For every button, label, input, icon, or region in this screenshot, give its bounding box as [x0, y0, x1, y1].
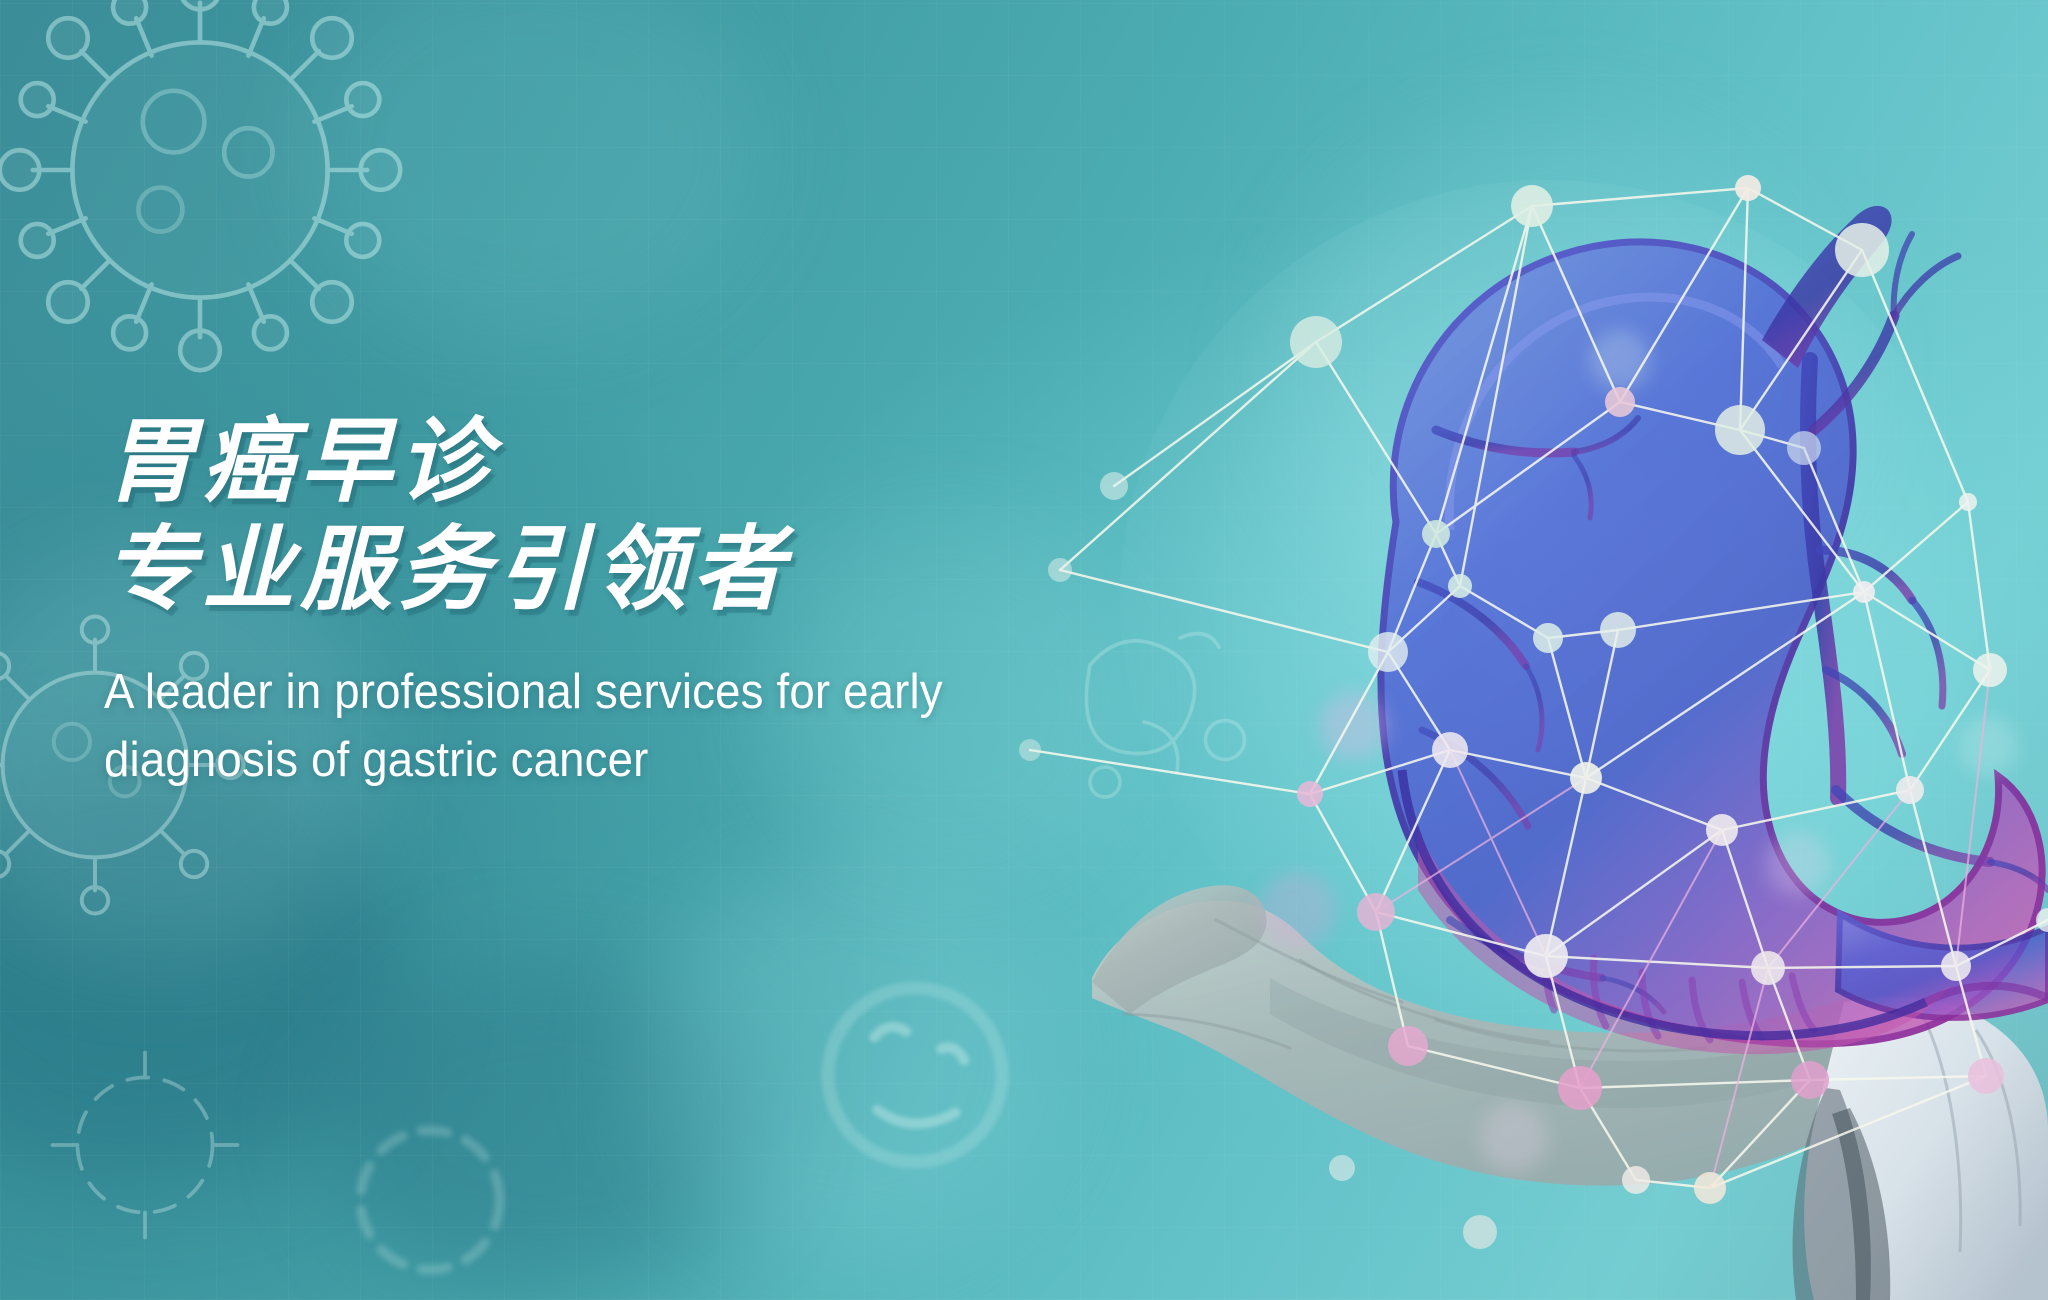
lab-coat-sleeve — [1804, 997, 2048, 1300]
network-node — [1432, 732, 1468, 768]
hand-palm — [1092, 901, 1892, 1186]
network-node — [1835, 223, 1889, 277]
subtitle-line-1: A leader in professional services for ea… — [104, 658, 1034, 726]
virus-particle-icon — [20, 1020, 270, 1270]
background-blob — [0, 760, 400, 1180]
network-node — [1787, 431, 1821, 465]
network-node — [1959, 493, 1977, 511]
background-blob — [330, 960, 760, 1290]
headline-line-1: 胃癌早诊 — [104, 408, 1104, 516]
network-node — [1297, 781, 1323, 807]
network-node — [1896, 776, 1924, 804]
network-node — [1388, 1026, 1428, 1066]
network-node — [1463, 1215, 1497, 1249]
background-blob — [1280, 120, 1840, 640]
hero-banner: 胃癌早诊 专业服务引领者 A leader in professional se… — [0, 0, 2048, 1300]
stomach-body — [1381, 242, 2042, 1044]
sleeve-cuff-shadow — [1793, 1088, 1871, 1300]
stomach-esophagus — [1762, 206, 1892, 368]
network-node — [1511, 185, 1553, 227]
network-node — [1448, 574, 1472, 598]
stomach-rugae — [1546, 940, 1814, 1040]
network-node — [1751, 951, 1785, 985]
network-node — [1622, 1166, 1650, 1194]
headline-block: 胃癌早诊 专业服务引领者 A leader in professional se… — [104, 408, 1104, 794]
background-blob — [640, 860, 1060, 1260]
network-node — [1558, 1066, 1602, 1110]
hand-shading — [1270, 978, 1866, 1108]
network-node — [1853, 581, 1875, 603]
stomach-vessels — [1418, 234, 2048, 1012]
hand-graphic — [1092, 885, 2048, 1300]
network-node — [1290, 316, 1342, 368]
virus-particle-icon — [770, 930, 1060, 1220]
network-node — [1524, 934, 1568, 978]
stomach-outline-accent — [1402, 770, 1926, 1036]
network-node — [1357, 893, 1395, 931]
stomach-lower-tint — [1418, 830, 1950, 1054]
network-nodes — [1019, 175, 2048, 1249]
headline-line-2: 专业服务引领者 — [104, 516, 1104, 624]
network-edges — [1030, 188, 2048, 1188]
network-node — [1422, 520, 1450, 548]
network-node — [1968, 1058, 2004, 1094]
network-node — [1368, 632, 1408, 672]
virus-particle-icon — [300, 1080, 560, 1300]
virus-particle-icon — [0, 0, 440, 390]
background-blob — [300, 0, 760, 340]
network-node — [1973, 653, 2007, 687]
network-node — [1570, 762, 1602, 794]
network-node — [1329, 1155, 1355, 1181]
hero-artwork — [1150, 130, 2048, 1300]
subtitle-block: A leader in professional services for ea… — [104, 658, 1034, 794]
network-node — [1715, 405, 1765, 455]
network-node — [1605, 387, 1635, 417]
network-node — [1791, 1061, 1829, 1099]
stomach-duodenum — [1838, 914, 2048, 1018]
hero-glow — [1120, 180, 1980, 1020]
network-edges-accent — [1376, 670, 1990, 1188]
subtitle-line-2: diagnosis of gastric cancer — [104, 726, 1034, 794]
bokeh-layer — [1260, 330, 2018, 1172]
stomach-graphic — [1381, 206, 2048, 1054]
network-node — [1694, 1172, 1726, 1204]
network-node — [1600, 612, 1636, 648]
network-node — [1533, 623, 1563, 653]
network-node — [1735, 175, 1761, 201]
network-node — [1941, 951, 1971, 981]
network-node — [2036, 908, 2048, 932]
network-mesh — [1019, 175, 2048, 1249]
hand-finger — [1092, 885, 1267, 1014]
network-node — [1100, 472, 1128, 500]
network-node — [1706, 814, 1738, 846]
